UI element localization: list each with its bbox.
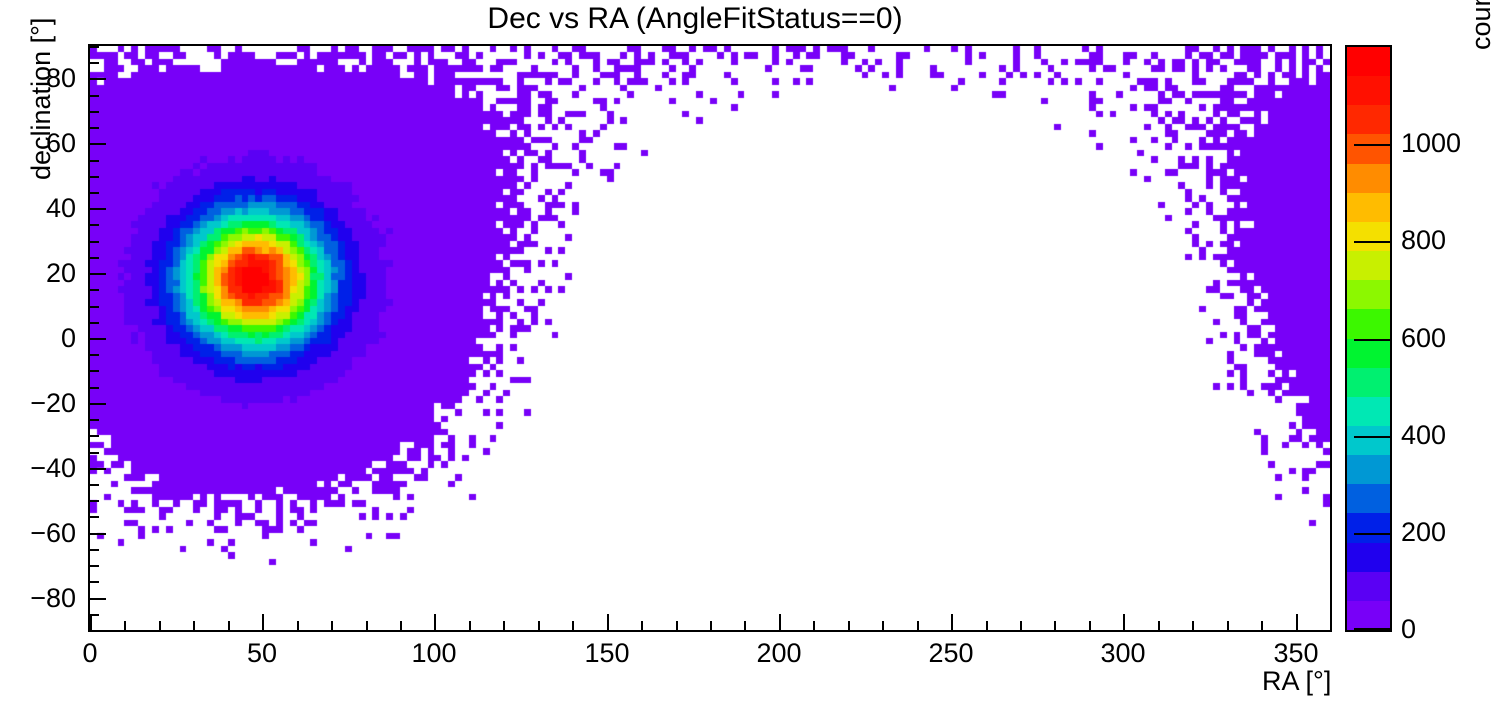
- x-minor-tick: [1158, 621, 1160, 630]
- y-minor-tick: [90, 387, 99, 389]
- color-bar-tick-label: 600: [1401, 325, 1446, 352]
- y-minor-tick: [90, 306, 99, 308]
- x-minor-tick: [917, 621, 919, 630]
- y-minor-tick: [90, 484, 99, 486]
- x-tick-label: 300: [1063, 640, 1183, 667]
- color-bar-tick: [1354, 628, 1390, 630]
- x-minor-tick: [503, 621, 505, 630]
- x-minor-tick: [366, 621, 368, 630]
- y-minor-tick: [90, 257, 99, 259]
- y-minor-tick: [90, 176, 99, 178]
- x-major-tick: [607, 614, 609, 630]
- x-minor-tick: [124, 621, 126, 630]
- y-major-tick: [90, 338, 106, 340]
- root-canvas: Dec vs RA (AngleFitStatus==0) −80−60−40−…: [0, 0, 1496, 722]
- y-minor-tick: [90, 435, 99, 437]
- color-bar-band: [1347, 251, 1390, 280]
- color-bar-band: [1347, 280, 1390, 309]
- color-bar-band: [1347, 164, 1390, 193]
- x-minor-tick: [882, 621, 884, 630]
- y-minor-tick: [90, 452, 99, 454]
- y-minor-tick: [90, 46, 99, 48]
- x-minor-tick: [986, 621, 988, 630]
- y-tick-label: −60: [0, 520, 76, 547]
- color-bar-band: [1347, 222, 1390, 251]
- y-minor-tick: [90, 111, 99, 113]
- y-minor-tick: [90, 224, 99, 226]
- color-bar-band: [1347, 513, 1390, 543]
- color-bar-tick-label: 200: [1401, 519, 1446, 546]
- x-minor-tick: [469, 621, 471, 630]
- x-minor-tick: [710, 621, 712, 630]
- y-major-tick: [90, 273, 106, 275]
- y-minor-tick: [90, 192, 99, 194]
- x-tick-label: 250: [891, 640, 1011, 667]
- y-minor-tick: [90, 516, 99, 518]
- y-major-tick: [90, 208, 106, 210]
- x-tick-label: 100: [374, 640, 494, 667]
- color-bar-band: [1347, 572, 1390, 601]
- x-minor-tick: [297, 621, 299, 630]
- x-major-tick: [1123, 614, 1125, 630]
- y-minor-tick: [90, 630, 99, 632]
- y-minor-tick: [90, 62, 99, 64]
- x-major-tick: [434, 614, 436, 630]
- x-minor-tick: [1192, 621, 1194, 630]
- color-bar-tick-label: 0: [1401, 616, 1416, 643]
- color-bar-band: [1347, 397, 1390, 426]
- y-tick-label: −80: [0, 585, 76, 612]
- x-minor-tick: [1054, 621, 1056, 630]
- z-axis-title: count: [1468, 0, 1495, 50]
- color-bar-band: [1347, 105, 1390, 134]
- plot-frame: [88, 44, 1332, 632]
- y-major-tick: [90, 143, 106, 145]
- x-minor-tick: [1020, 621, 1022, 630]
- page-title: Dec vs RA (AngleFitStatus==0): [0, 2, 1390, 36]
- x-minor-tick: [1089, 621, 1091, 630]
- color-bar-tick-label: 400: [1401, 422, 1446, 449]
- color-bar-band: [1347, 339, 1390, 368]
- y-minor-tick: [90, 549, 99, 551]
- y-minor-tick: [90, 500, 99, 502]
- y-minor-tick: [90, 354, 99, 356]
- y-tick-label: 20: [0, 260, 76, 287]
- color-bar-band: [1347, 426, 1390, 455]
- y-minor-tick: [90, 565, 99, 567]
- x-minor-tick: [331, 621, 333, 630]
- y-tick-label: 0: [0, 325, 76, 352]
- y-minor-tick: [90, 370, 99, 372]
- x-tick-label: 150: [547, 640, 667, 667]
- color-bar-band: [1347, 484, 1390, 513]
- color-bar-tick: [1354, 339, 1390, 341]
- y-minor-tick: [90, 289, 99, 291]
- y-minor-tick: [90, 419, 99, 421]
- x-major-tick: [951, 614, 953, 630]
- y-tick-label: −20: [0, 390, 76, 417]
- y-minor-tick: [90, 581, 99, 583]
- y-minor-tick: [90, 322, 99, 324]
- y-tick-label: −40: [0, 455, 76, 482]
- color-bar-band: [1347, 193, 1390, 222]
- x-minor-tick: [676, 621, 678, 630]
- color-bar-tick-label: 800: [1401, 227, 1446, 254]
- x-minor-tick: [848, 621, 850, 630]
- color-bar-tick: [1354, 241, 1390, 243]
- y-minor-tick: [90, 127, 99, 129]
- x-tick-label: 200: [719, 640, 839, 667]
- x-minor-tick: [1330, 621, 1332, 630]
- x-tick-label: 50: [202, 640, 322, 667]
- x-minor-tick: [744, 621, 746, 630]
- y-major-tick: [90, 533, 106, 535]
- x-minor-tick: [1227, 621, 1229, 630]
- y-axis-title: declination [°]: [28, 18, 55, 180]
- color-bar-band: [1347, 76, 1390, 105]
- y-major-tick: [90, 468, 106, 470]
- y-major-tick: [90, 78, 106, 80]
- y-minor-tick: [90, 241, 99, 243]
- y-major-tick: [90, 598, 106, 600]
- x-minor-tick: [641, 621, 643, 630]
- y-tick-label: 40: [0, 195, 76, 222]
- color-bar-band: [1347, 134, 1390, 164]
- y-major-tick: [90, 403, 106, 405]
- x-tick-label: 0: [30, 640, 150, 667]
- color-bar-band: [1347, 601, 1390, 630]
- color-bar-band: [1347, 368, 1390, 397]
- x-major-tick: [779, 614, 781, 630]
- x-minor-tick: [400, 621, 402, 630]
- histogram-canvas: [90, 46, 1330, 630]
- x-axis-title: RA [°]: [1262, 668, 1331, 695]
- color-bar-tick: [1354, 533, 1390, 535]
- x-tick-label: 350: [1236, 640, 1356, 667]
- x-minor-tick: [159, 621, 161, 630]
- x-minor-tick: [228, 621, 230, 630]
- x-minor-tick: [572, 621, 574, 630]
- color-bar-band: [1347, 543, 1390, 572]
- x-major-tick: [262, 614, 264, 630]
- x-major-tick: [90, 614, 92, 630]
- color-bar-band: [1347, 455, 1390, 484]
- y-minor-tick: [90, 160, 99, 162]
- x-minor-tick: [193, 621, 195, 630]
- x-minor-tick: [1261, 621, 1263, 630]
- x-minor-tick: [538, 621, 540, 630]
- y-minor-tick: [90, 95, 99, 97]
- color-bar-tick: [1354, 144, 1390, 146]
- color-bar-band: [1347, 309, 1390, 339]
- x-major-tick: [1296, 614, 1298, 630]
- x-minor-tick: [813, 621, 815, 630]
- color-bar-band: [1347, 47, 1390, 76]
- color-bar-tick: [1354, 436, 1390, 438]
- color-bar-tick-label: 1000: [1401, 130, 1461, 157]
